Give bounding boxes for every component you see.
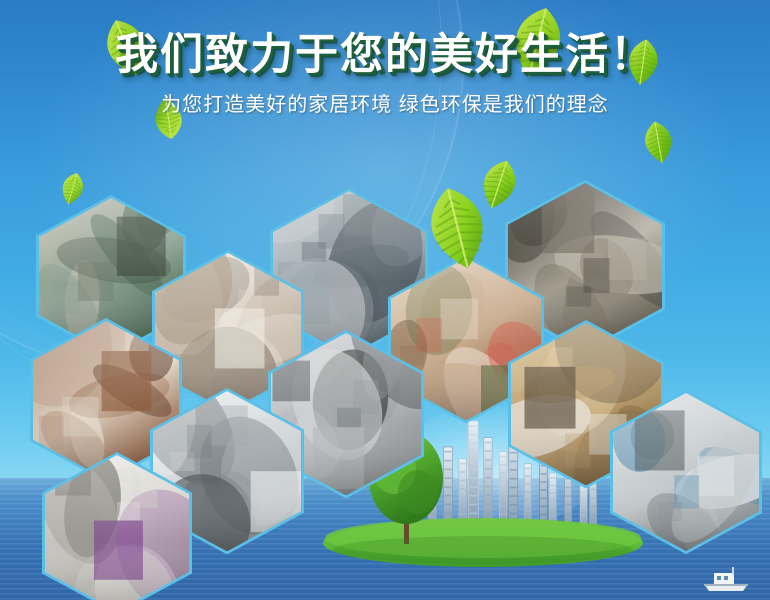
leaf-left-small-icon: [56, 168, 93, 193]
page-subtitle: 为您打造美好的家居环境 绿色环保是我们的理念: [161, 92, 609, 118]
boat-icon: [700, 564, 752, 594]
headline-block: 我们致力于您的美好生活！ 为您打造美好的家居环境 绿色环保是我们的理念: [0, 30, 770, 118]
leaf-under-title-icon: [147, 115, 194, 143]
leaf-above-hex-icon: [406, 176, 497, 226]
leaf-mid-right-icon: [633, 117, 691, 207]
banner-stage: 我们致力于您的美好生活！ 为您打造美好的家居环境 绿色环保是我们的理念 拆除作业…: [0, 0, 770, 600]
page-title: 我们致力于您的美好生活！: [115, 30, 655, 80]
